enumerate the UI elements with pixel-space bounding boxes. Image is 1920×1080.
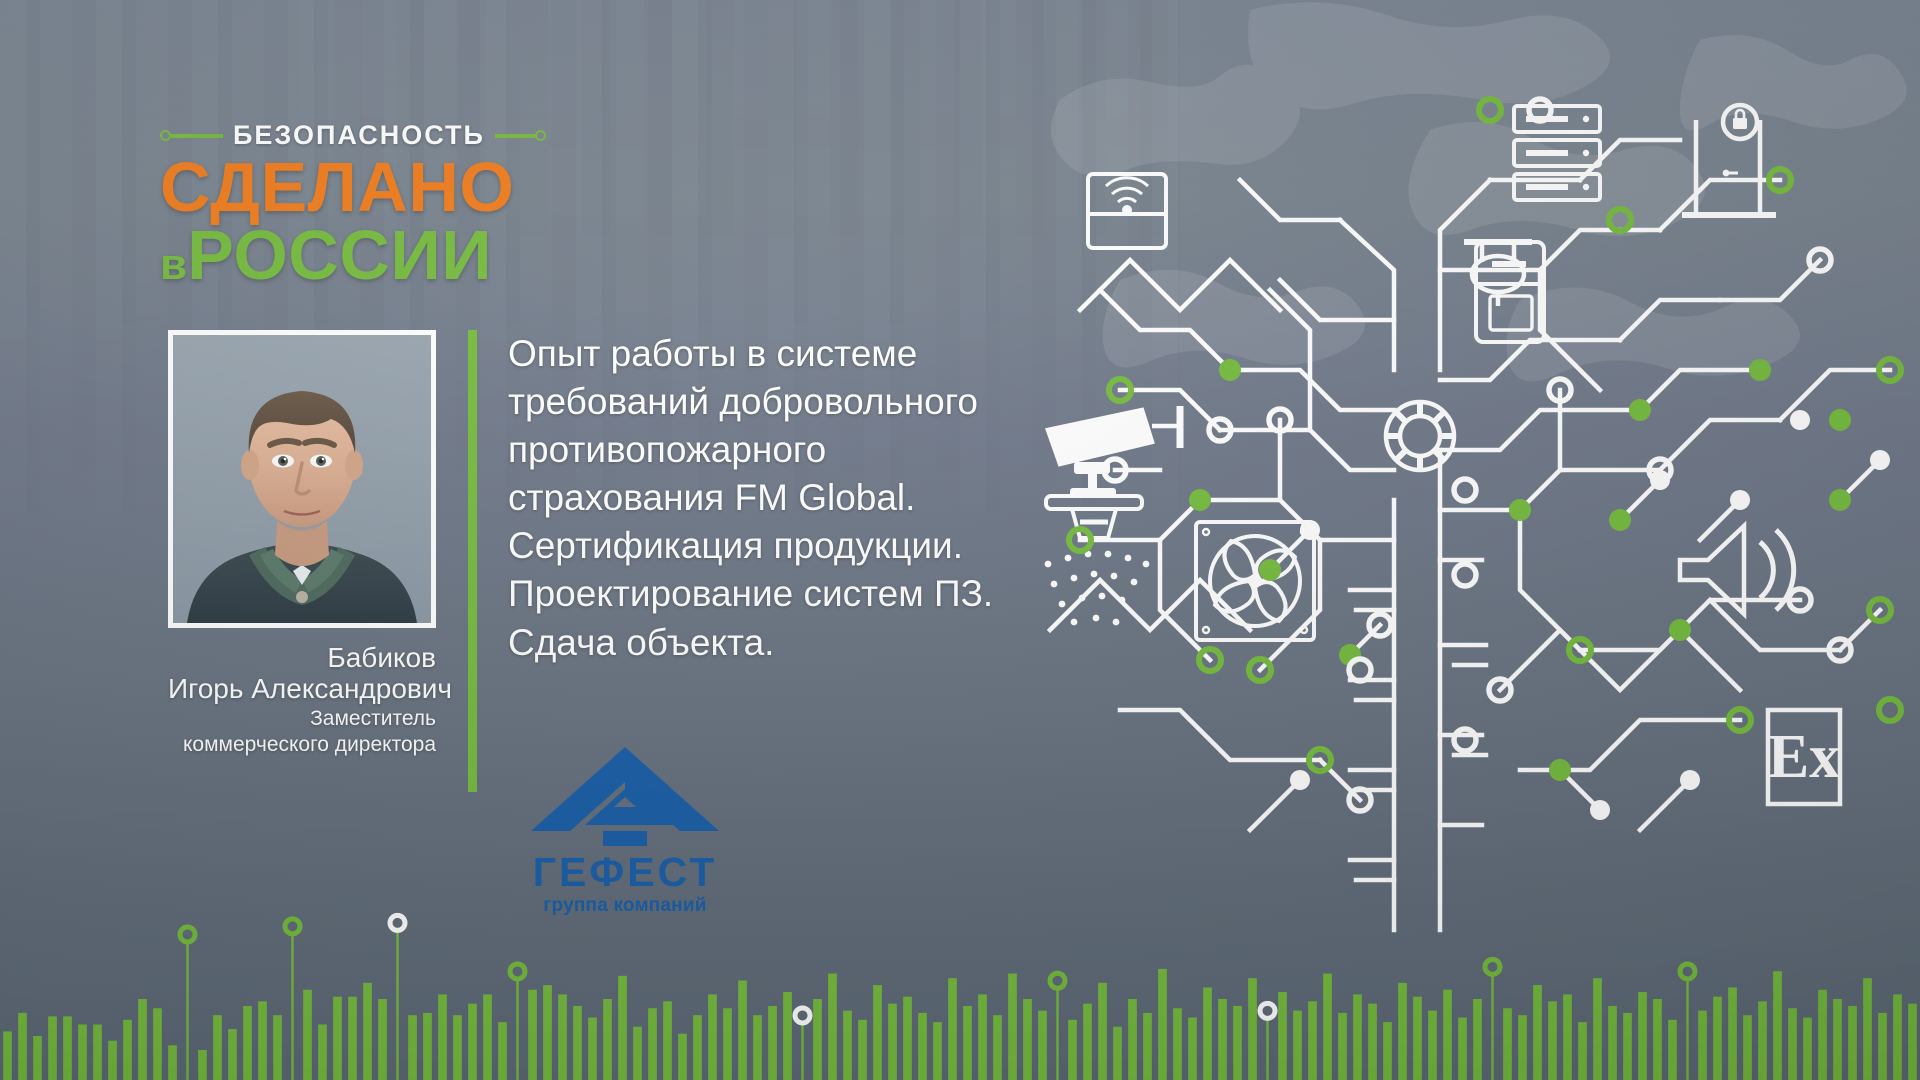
chart-bar bbox=[1758, 1001, 1767, 1080]
chart-bar bbox=[708, 994, 717, 1080]
chart-bar bbox=[528, 990, 537, 1080]
body-line-7: Сдача объекта. bbox=[508, 619, 1168, 667]
chart-bar bbox=[33, 1036, 42, 1080]
chart-bar bbox=[1308, 1001, 1317, 1080]
chart-bar bbox=[1638, 992, 1647, 1080]
chart-bar bbox=[1908, 1004, 1917, 1080]
chart-bar bbox=[1413, 997, 1422, 1080]
chart-bar bbox=[78, 1024, 87, 1080]
chart-bar bbox=[933, 1022, 942, 1080]
chart-bar bbox=[423, 1013, 432, 1080]
chart-bar bbox=[1653, 999, 1662, 1080]
gefest-company-name: ГЕФЕСТ bbox=[510, 852, 740, 893]
chart-bar bbox=[1578, 1022, 1587, 1080]
chart-bar bbox=[1293, 1011, 1302, 1080]
chart-bar bbox=[396, 932, 398, 1080]
chart-bar bbox=[1143, 1013, 1152, 1080]
tagline-bar-left bbox=[171, 134, 223, 138]
chart-bar bbox=[1083, 1004, 1092, 1080]
chart-bar bbox=[1173, 1008, 1182, 1080]
brand-country: РОССИИ bbox=[187, 216, 492, 294]
chart-bar bbox=[1248, 978, 1257, 1080]
chart-bar bbox=[1383, 1022, 1392, 1080]
chart-bar bbox=[1518, 1015, 1527, 1080]
tagline-right-rule bbox=[495, 130, 546, 141]
chart-bar bbox=[3, 1031, 12, 1080]
chart-bar-marker bbox=[1260, 1003, 1275, 1018]
chart-bar-marker bbox=[180, 927, 195, 942]
brand-logo: БЕЗОПАСНОСТЬ СДЕЛАНО вРОССИИ bbox=[160, 120, 580, 290]
chart-bar bbox=[1398, 983, 1407, 1080]
chart-bar bbox=[333, 997, 342, 1080]
chart-bar bbox=[1686, 980, 1688, 1080]
chart-bar bbox=[378, 999, 387, 1080]
chart-bar bbox=[1266, 1020, 1268, 1080]
tagline-bar-right bbox=[495, 134, 535, 138]
chart-bar bbox=[363, 983, 372, 1080]
chart-bar bbox=[483, 994, 492, 1080]
chart-bar bbox=[93, 1024, 102, 1080]
speaker-photo bbox=[168, 330, 436, 628]
chart-bar bbox=[1128, 999, 1137, 1080]
chart-bar bbox=[588, 1018, 597, 1080]
chart-bar bbox=[63, 1016, 72, 1080]
chart-bar bbox=[186, 943, 188, 1080]
server-rack-icon bbox=[1514, 106, 1600, 200]
chart-bar bbox=[1443, 990, 1452, 1080]
chart-bar bbox=[1608, 1006, 1617, 1080]
chart-bar bbox=[1548, 1001, 1557, 1080]
chart-bar-marker bbox=[1050, 973, 1065, 988]
body-line-5: Сертификация продукции. bbox=[508, 522, 1168, 570]
chart-bar bbox=[1233, 1006, 1242, 1080]
chart-bar bbox=[543, 985, 552, 1080]
ex-marking-icon: Ex bbox=[1768, 710, 1840, 804]
body-line-6: Проектирование систем ПЗ. bbox=[508, 570, 1168, 618]
chart-bar bbox=[123, 1020, 132, 1080]
chart-bar bbox=[243, 1006, 252, 1080]
chart-bar bbox=[801, 1024, 803, 1080]
chart-bar-marker bbox=[1680, 964, 1695, 979]
presentation-slide: Ex bbox=[0, 0, 1920, 1080]
tagline-dot-right-icon bbox=[535, 130, 546, 141]
speaker-first-patronymic: Игорь Александрович bbox=[168, 673, 436, 704]
chart-bar bbox=[408, 1015, 417, 1080]
chart-bar bbox=[1503, 1008, 1512, 1080]
gefest-roof-mark-icon bbox=[530, 745, 720, 850]
circuit-node-green-ring bbox=[1069, 99, 1901, 771]
brand-tagline-row: БЕЗОПАСНОСТЬ bbox=[160, 120, 580, 151]
chart-bar bbox=[1338, 1013, 1347, 1080]
body-line-3: противопожарного bbox=[508, 426, 1168, 474]
gefest-company-logo: ГЕФЕСТ группа компаний bbox=[510, 745, 740, 915]
chart-bar bbox=[1848, 1006, 1857, 1080]
chart-bar bbox=[783, 992, 792, 1080]
chart-bar bbox=[303, 990, 312, 1080]
tagline-left-rule bbox=[160, 130, 223, 141]
chart-bar bbox=[1158, 969, 1167, 1080]
chart-bar bbox=[663, 1001, 672, 1080]
brand-tagline: БЕЗОПАСНОСТЬ bbox=[233, 120, 485, 151]
speaker-block: Бабиков Игорь Александрович Заместитель … bbox=[168, 330, 436, 757]
chart-bar bbox=[291, 935, 293, 1080]
chart-bar bbox=[648, 1008, 657, 1080]
chart-bar bbox=[1533, 985, 1542, 1080]
chart-bar bbox=[1593, 978, 1602, 1080]
chart-bar-marker bbox=[1485, 959, 1500, 974]
chart-bar bbox=[858, 1020, 867, 1080]
body-line-2: требований добровольного bbox=[508, 378, 1168, 426]
chart-bar bbox=[1068, 1020, 1077, 1080]
chart-bar bbox=[198, 1050, 207, 1080]
chart-bar bbox=[108, 1041, 117, 1080]
chart-bar bbox=[258, 1001, 267, 1080]
chart-bar bbox=[903, 997, 912, 1080]
chart-bar bbox=[1818, 990, 1827, 1080]
chart-bar bbox=[168, 1045, 177, 1080]
chart-bar bbox=[1098, 983, 1107, 1080]
body-copy: Опыт работы в системе требований доброво… bbox=[508, 330, 1168, 667]
chart-bar bbox=[48, 1016, 57, 1080]
chart-bar bbox=[573, 1006, 582, 1080]
chart-bar bbox=[516, 980, 518, 1080]
chart-bar bbox=[18, 1013, 27, 1080]
chart-bar bbox=[1833, 999, 1842, 1080]
wifi-sensor-icon bbox=[1088, 174, 1166, 248]
chart-bar bbox=[723, 1008, 732, 1080]
chart-bar bbox=[888, 1004, 897, 1080]
chart-bar bbox=[603, 999, 612, 1080]
chart-bar bbox=[1353, 994, 1362, 1080]
chart-bar bbox=[318, 1024, 327, 1080]
chart-bar bbox=[1713, 997, 1722, 1080]
chart-bar bbox=[828, 974, 837, 1080]
chart-bar bbox=[753, 1015, 762, 1080]
chart-bar bbox=[1728, 987, 1737, 1080]
chart-bar bbox=[1563, 994, 1572, 1080]
chart-bar bbox=[1878, 1013, 1887, 1080]
chart-bar bbox=[948, 978, 957, 1080]
body-line-1: Опыт работы в системе bbox=[508, 330, 1168, 378]
bottom-bar-chart bbox=[0, 900, 1920, 1080]
chart-bar bbox=[1698, 1011, 1707, 1080]
chart-bar bbox=[693, 1015, 702, 1080]
chart-bar bbox=[1008, 974, 1017, 1080]
body-line-4: страхования FM Global. bbox=[508, 474, 1168, 522]
chart-bar bbox=[558, 994, 567, 1080]
chart-bar bbox=[963, 1006, 972, 1080]
chart-bar bbox=[978, 994, 987, 1080]
chart-bar bbox=[1038, 1011, 1047, 1080]
chart-bar bbox=[1023, 999, 1032, 1080]
chart-bar-marker bbox=[285, 919, 300, 934]
chart-bar bbox=[1458, 1018, 1467, 1080]
chart-bar bbox=[1278, 992, 1287, 1080]
chart-bar bbox=[453, 1015, 462, 1080]
speaker-last-name: Бабиков bbox=[168, 642, 436, 673]
brand-made-word: СДЕЛАНО bbox=[160, 155, 580, 220]
chart-bar bbox=[1368, 1004, 1377, 1080]
chart-bar bbox=[633, 1027, 642, 1080]
chart-bar-marker bbox=[510, 964, 525, 979]
chart-bar bbox=[1323, 974, 1332, 1080]
tagline-dot-left-icon bbox=[160, 130, 171, 141]
chart-bar bbox=[1428, 1011, 1437, 1080]
chart-bar bbox=[498, 1022, 507, 1080]
chart-bar bbox=[1056, 990, 1058, 1080]
chart-bar bbox=[1668, 1020, 1677, 1080]
circuit-node-white-ring bbox=[1104, 99, 1851, 811]
chart-bar bbox=[438, 994, 447, 1080]
chart-bar bbox=[618, 976, 627, 1080]
chart-bar bbox=[273, 1015, 282, 1080]
chart-bar bbox=[1473, 999, 1482, 1080]
chart-bar bbox=[1188, 1018, 1197, 1080]
chart-bar bbox=[738, 980, 747, 1080]
chart-bar bbox=[1623, 1013, 1632, 1080]
chart-bar bbox=[348, 997, 357, 1080]
chart-bar bbox=[993, 1015, 1002, 1080]
svg-text:Ex: Ex bbox=[1768, 723, 1840, 791]
chart-bar bbox=[843, 1011, 852, 1080]
chart-bar bbox=[228, 1029, 237, 1080]
door-lock-icon bbox=[1682, 105, 1776, 215]
chart-bar-marker bbox=[795, 1008, 810, 1023]
chart-bar bbox=[678, 1034, 687, 1080]
chart-bar bbox=[213, 1015, 222, 1080]
chart-bar bbox=[1893, 994, 1902, 1080]
ventilation-fan-icon bbox=[1196, 522, 1314, 640]
chart-bar bbox=[1743, 1015, 1752, 1080]
speaker-role-line-2: коммерческого директора bbox=[168, 733, 436, 757]
chart-bar bbox=[1113, 1027, 1122, 1080]
brand-preposition: в bbox=[160, 240, 187, 289]
chart-bar bbox=[918, 1013, 927, 1080]
chart-bar bbox=[1863, 978, 1872, 1080]
chart-bar bbox=[813, 999, 822, 1080]
chart-bar bbox=[1788, 1008, 1797, 1080]
speaker-meta: Бабиков Игорь Александрович Заместитель … bbox=[168, 642, 436, 757]
brand-country-row: вРОССИИ bbox=[160, 220, 580, 290]
chart-bar bbox=[1773, 971, 1782, 1080]
chart-bar bbox=[153, 1008, 162, 1080]
green-accent-rule bbox=[468, 330, 477, 792]
chart-bar bbox=[138, 999, 147, 1080]
smoke-detector-icon bbox=[1386, 402, 1454, 470]
chart-bar bbox=[1218, 999, 1227, 1080]
chart-bar bbox=[1803, 1018, 1812, 1080]
chart-bar bbox=[1491, 976, 1493, 1080]
chart-bar bbox=[468, 1004, 477, 1080]
chart-bar bbox=[873, 985, 882, 1080]
speaker-role-line-1: Заместитель bbox=[168, 707, 436, 731]
chart-bar bbox=[768, 1006, 777, 1080]
chart-bar-marker bbox=[390, 915, 405, 930]
chart-bar bbox=[1203, 987, 1212, 1080]
